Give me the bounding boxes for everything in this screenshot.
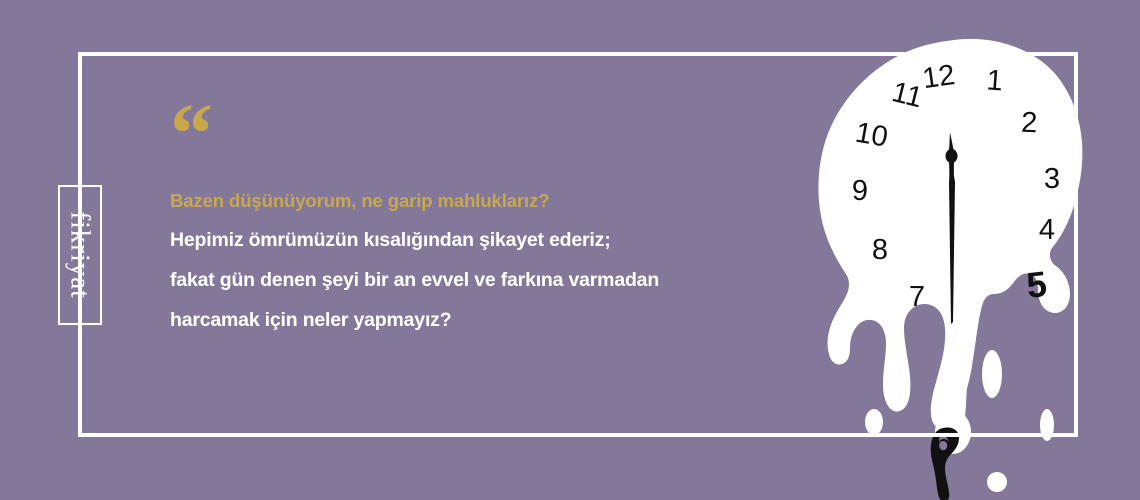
brand-logo[interactable]: fikriyat [58,185,102,325]
clock-numeral-4: 4 [1039,214,1055,246]
brand-logo-text: fikriyat [65,211,96,298]
clock-droplet-b [865,409,883,435]
clock-numeral-3: 3 [1044,163,1060,195]
clock-numeral-1: 1 [985,64,1003,97]
svg-text:6: 6 [935,427,951,459]
quote-line-2: fakat gün denen şeyi bir an evvel ve far… [170,260,830,300]
clock-numeral-10: 10 [853,117,890,154]
quote-lead-line: Bazen düşünüyorum, ne garip mahluklarız? [170,182,830,220]
quote-line-3: harcamak için neler yapmayız? [170,300,830,340]
clock-numeral-5: 5 [1025,263,1049,306]
clock-droplet-d [1040,409,1054,441]
clock-numeral-2: 2 [1021,107,1038,140]
poster-canvas: 12 1 2 3 4 5 7 8 9 10 11 6 fikriyat “ Ba… [0,0,1140,500]
melting-clock-illustration: 12 1 2 3 4 5 7 8 9 10 11 6 [812,22,1112,500]
clock-numeral-6-melted: 6 [931,427,959,500]
clock-numeral-8: 8 [872,234,888,266]
clock-droplet-a [982,350,1002,398]
quote-mark-icon: “ [170,108,830,166]
clock-numeral-12: 12 [921,59,957,95]
quote-line-1: Hepimiz ömrümüzün kısalığından şikayet e… [170,220,830,260]
quote-block: “ Bazen düşünüyorum, ne garip mahlukları… [170,108,830,340]
clock-numeral-7: 7 [909,281,925,313]
clock-numeral-9: 9 [852,175,868,207]
clock-droplet-e [987,472,1007,492]
